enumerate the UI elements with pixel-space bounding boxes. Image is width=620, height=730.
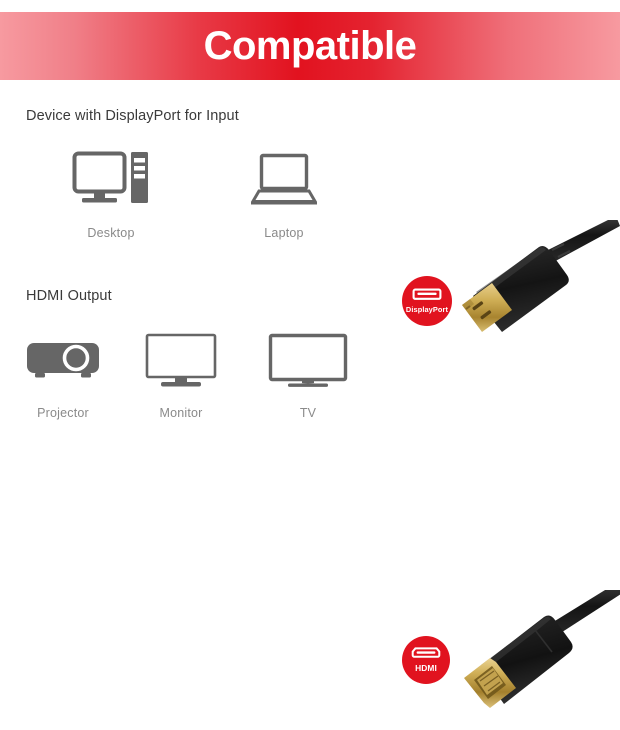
device-laptop: Laptop bbox=[225, 138, 343, 258]
device-icon-row-displayport: Desktop Laptop bbox=[0, 138, 390, 258]
device-monitor: Monitor bbox=[122, 318, 240, 438]
device-projector: Projector bbox=[4, 318, 122, 438]
monitor-icon bbox=[144, 318, 218, 404]
laptop-icon bbox=[251, 138, 317, 224]
hdmi-cable-connector bbox=[440, 590, 620, 730]
device-label-desktop: Desktop bbox=[87, 226, 134, 240]
projector-icon bbox=[25, 318, 101, 404]
page-title: Compatible bbox=[204, 26, 417, 66]
device-desktop: Desktop bbox=[52, 138, 170, 258]
header-banner: Compatible bbox=[0, 12, 620, 80]
section-displayport-input: Device with DisplayPort for Input bbox=[0, 100, 620, 260]
device-label-tv: TV bbox=[300, 406, 316, 420]
hdmi-connector-icon bbox=[411, 647, 441, 661]
compatibility-infographic: { "header": { "title": "Compatible", "ba… bbox=[0, 0, 620, 450]
device-icon-row-hdmi: Projector Monitor bbox=[0, 318, 390, 438]
device-label-projector: Projector bbox=[37, 406, 89, 420]
badge-label-hdmi: HDMI bbox=[415, 663, 437, 673]
device-tv: TV bbox=[249, 318, 367, 438]
section-title-displayport: Device with DisplayPort for Input bbox=[26, 108, 239, 124]
device-label-laptop: Laptop bbox=[264, 226, 303, 240]
section-hdmi-output: HDMI Output Projector bbox=[0, 280, 620, 440]
device-label-monitor: Monitor bbox=[159, 406, 202, 420]
tv-icon bbox=[267, 318, 349, 404]
section-title-hdmi: HDMI Output bbox=[26, 288, 112, 304]
desktop-computer-icon bbox=[72, 138, 150, 224]
